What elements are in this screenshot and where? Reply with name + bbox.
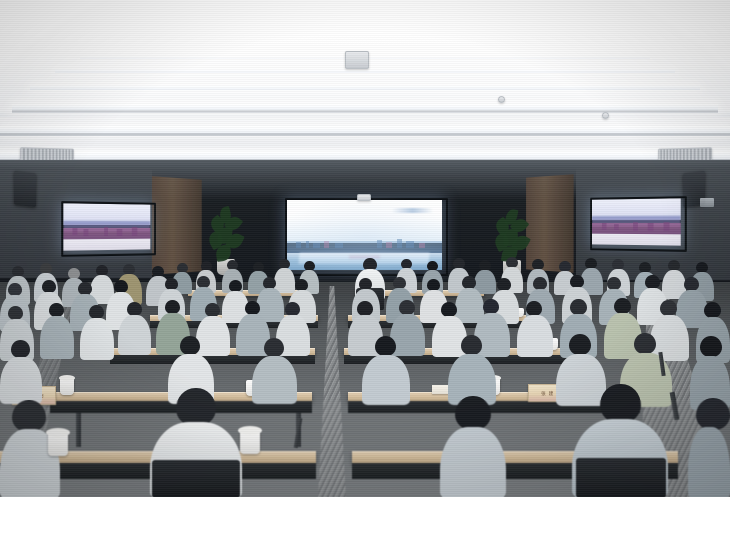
person-torso bbox=[118, 315, 151, 355]
attendee bbox=[362, 336, 410, 403]
person-torso bbox=[688, 427, 730, 497]
person-head bbox=[205, 303, 220, 317]
attendee bbox=[40, 303, 74, 358]
wall-panel-wood-left bbox=[151, 176, 201, 275]
person-head bbox=[455, 396, 491, 430]
attendee bbox=[118, 302, 151, 354]
person-head bbox=[399, 300, 415, 315]
attendee bbox=[517, 301, 553, 356]
attendee bbox=[0, 340, 42, 402]
ceiling-speaker bbox=[345, 51, 369, 69]
person-head bbox=[483, 299, 499, 314]
chair-foreground bbox=[152, 460, 240, 497]
screen-mount-bracket bbox=[357, 194, 371, 201]
wall-panel-wood-right bbox=[526, 174, 574, 272]
table-leg bbox=[76, 413, 81, 447]
person-head bbox=[176, 388, 216, 426]
ceiling-light-strip bbox=[0, 126, 730, 133]
person-head bbox=[600, 384, 641, 423]
person-head bbox=[634, 333, 656, 354]
ceiling-light-strip bbox=[55, 69, 675, 73]
person-head bbox=[49, 303, 64, 317]
bottom-white-margin bbox=[0, 497, 730, 548]
person-head bbox=[180, 336, 200, 355]
person-head bbox=[375, 336, 396, 356]
person-head bbox=[696, 398, 730, 430]
attendee bbox=[80, 305, 114, 359]
person-torso bbox=[440, 427, 506, 497]
smoke-detector-icon bbox=[602, 112, 609, 119]
person-head bbox=[8, 306, 23, 320]
right-screen-bezel bbox=[590, 196, 687, 252]
ceiling-light-strip bbox=[0, 151, 730, 159]
person-head bbox=[526, 301, 542, 316]
person-head bbox=[461, 335, 482, 355]
ceiling-rail bbox=[0, 133, 730, 136]
person-head bbox=[645, 275, 660, 289]
smoke-detector-icon bbox=[498, 96, 505, 103]
person-torso bbox=[362, 355, 410, 405]
person-head bbox=[570, 299, 587, 315]
person-head bbox=[684, 277, 699, 291]
person-head bbox=[264, 338, 284, 357]
ceiling-light-strip bbox=[30, 85, 700, 90]
attendee bbox=[252, 338, 297, 402]
person-head bbox=[245, 301, 260, 315]
person-head bbox=[614, 298, 631, 314]
person-head bbox=[660, 300, 677, 316]
person-head bbox=[441, 302, 457, 317]
tea-cup-lid bbox=[238, 426, 262, 435]
person-head bbox=[12, 400, 46, 432]
person-head bbox=[11, 340, 30, 358]
photo-frame: 中 子 右 张 建 华 bbox=[0, 0, 730, 497]
tea-cup-lid bbox=[46, 428, 70, 437]
person-torso bbox=[40, 316, 74, 359]
wall-speaker-left bbox=[14, 171, 36, 208]
left-screen-bezel bbox=[61, 201, 156, 257]
ceiling-rail bbox=[12, 110, 718, 113]
attendee-foreground-mid bbox=[688, 398, 730, 497]
person-head bbox=[700, 336, 722, 357]
person-torso bbox=[0, 357, 42, 404]
exit-sign bbox=[700, 198, 714, 207]
attendee-foreground-mid bbox=[440, 396, 506, 497]
person-head bbox=[285, 302, 300, 316]
person-head bbox=[89, 305, 104, 319]
tea-cup-lid bbox=[59, 375, 75, 381]
person-torso bbox=[517, 315, 553, 357]
person-head bbox=[357, 301, 373, 316]
chair-foreground bbox=[576, 458, 666, 497]
person-head bbox=[165, 300, 180, 314]
attendee bbox=[448, 335, 496, 403]
photograph-conference-room: 中 子 右 张 建 华 bbox=[0, 0, 730, 548]
person-head bbox=[569, 334, 591, 355]
person-torso bbox=[80, 318, 114, 360]
person-torso bbox=[252, 356, 297, 404]
person-head bbox=[127, 302, 142, 316]
person-head bbox=[704, 302, 721, 318]
